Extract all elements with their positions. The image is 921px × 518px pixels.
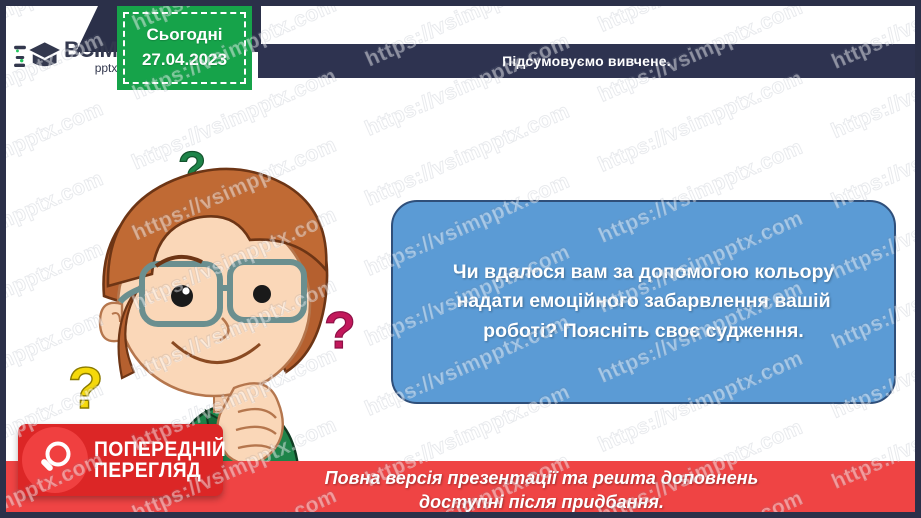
purchase-notice-text: Повна версія презентації та решта доповн… [325,467,759,512]
preview-badge-text: ПОПЕРЕДНІЙ ПЕРЕГЛЯД [94,439,238,482]
watermark-text: https://vsimpptx.com [362,99,573,210]
today-date-badge: Сьогодні 27.04.2023 [119,8,250,88]
date-badge-value: 27.04.2023 [142,48,227,73]
presentation-slide: ? ? ? [0,0,921,518]
graduation-cap-icon [14,39,60,73]
logo-suffix-text: pptx [64,62,117,74]
slide-title-bar: Підсумовуємо вивчене. [258,44,915,78]
question-mark-yellow: ? [68,356,103,421]
watermark-text: https://vsimpptx.com [828,102,915,213]
purchase-notice-line-2: доступні після придбання. [325,491,759,513]
watermark-text: https://vsimpptx.com [595,66,806,177]
preview-badge-line-2: ПЕРЕГЛЯД [94,460,226,481]
question-text: Чи вдалося вам за допомогою кольору нада… [419,258,868,346]
question-mark-pink: ? [324,302,356,360]
purchase-notice-line-1: Повна версія презентації та решта доповн… [325,467,759,491]
logo-brand-text: ВСІМ [64,39,117,61]
magnifier-icon [33,438,77,482]
slide-title: Підсумовуємо вивчене. [502,53,671,69]
question-callout-box: Чи вдалося вам за допомогою кольору нада… [391,200,896,404]
watermark-text: https://vsimpptx.com [595,6,806,37]
eye-left [171,285,193,307]
preview-badge-line-1: ПОПЕРЕДНІЙ [94,439,226,460]
slide-canvas: ? ? ? [6,6,915,512]
brand-logo: ВСІМ pptx [14,33,132,79]
date-badge-label: Сьогодні [147,23,223,48]
eye-right [253,285,271,303]
magnifier-icon-circle [22,427,88,493]
preview-badge[interactable]: ПОПЕРЕДНІЙ ПЕРЕГЛЯД [18,424,223,496]
